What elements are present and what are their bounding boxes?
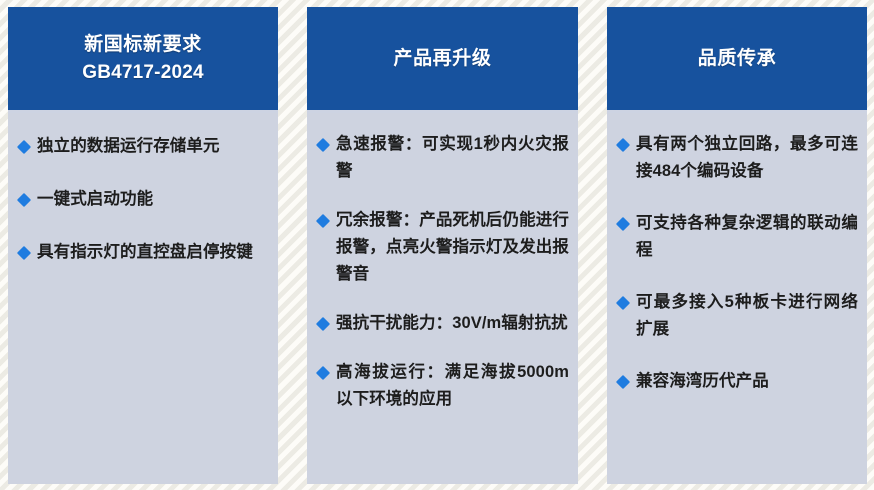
card-body-product-upgrade: 急速报警：可实现1秒内火灾报警 冗余报警：产品死机后仍能进行报警，点亮火警指示灯… bbox=[307, 113, 578, 484]
diamond-bullet-icon bbox=[316, 317, 330, 331]
diamond-bullet-icon bbox=[616, 296, 630, 310]
bullet-list-new-standard: 独立的数据运行存储单元 一键式启动功能 具有指示灯的直控盘启停按键 bbox=[18, 133, 269, 266]
list-item-text: 具有指示灯的直控盘启停按键 bbox=[37, 243, 253, 261]
slide-canvas: 新国标新要求 GB4717-2024 独立的数据运行存储单元 一键式启动功能 bbox=[0, 0, 874, 490]
diamond-bullet-icon bbox=[17, 140, 31, 154]
list-item-text: 急速报警：可实现1秒内火灾报警 bbox=[336, 135, 569, 180]
card-header-product-upgrade: 产品再升级 bbox=[307, 7, 578, 110]
card-title-line-1: 新国标新要求 bbox=[84, 31, 202, 59]
list-item-text: 兼容海湾历代产品 bbox=[636, 372, 769, 390]
column-product-upgrade: 产品再升级 急速报警：可实现1秒内火灾报警 冗余报警：产品死机后仍能进行报警，点… bbox=[307, 0, 578, 490]
list-item: 具有指示灯的直控盘启停按键 bbox=[18, 239, 269, 266]
list-item-text: 独立的数据运行存储单元 bbox=[37, 137, 220, 155]
list-item-text: 冗余报警：产品死机后仍能进行报警，点亮火警指示灯及发出报警音 bbox=[336, 211, 569, 283]
list-item: 可最多接入5种板卡进行网络扩展 bbox=[617, 289, 858, 343]
list-item-text: 强抗干扰能力：30V/m辐射抗扰 bbox=[336, 314, 568, 332]
list-item-text: 可支持各种复杂逻辑的联动编程 bbox=[636, 214, 858, 259]
card-quality-heritage: 品质传承 具有两个独立回路，最多可连接484个编码设备 可支持各种复杂逻辑的联动… bbox=[607, 7, 867, 484]
diamond-bullet-icon bbox=[316, 366, 330, 380]
list-item: 高海拔运行：满足海拔5000m以下环境的应用 bbox=[317, 359, 569, 413]
column-quality-heritage: 品质传承 具有两个独立回路，最多可连接484个编码设备 可支持各种复杂逻辑的联动… bbox=[607, 0, 867, 490]
card-title-line-1: 品质传承 bbox=[698, 45, 776, 73]
diamond-bullet-icon bbox=[316, 138, 330, 152]
diamond-bullet-icon bbox=[616, 375, 630, 389]
card-new-standard: 新国标新要求 GB4717-2024 独立的数据运行存储单元 一键式启动功能 bbox=[8, 7, 278, 484]
list-item-text: 一键式启动功能 bbox=[37, 190, 153, 208]
list-item-text: 高海拔运行：满足海拔5000m以下环境的应用 bbox=[336, 363, 569, 408]
list-item: 可支持各种复杂逻辑的联动编程 bbox=[617, 210, 858, 264]
card-body-new-standard: 独立的数据运行存储单元 一键式启动功能 具有指示灯的直控盘启停按键 bbox=[8, 113, 278, 484]
card-product-upgrade: 产品再升级 急速报警：可实现1秒内火灾报警 冗余报警：产品死机后仍能进行报警，点… bbox=[307, 7, 578, 484]
card-header-new-standard: 新国标新要求 GB4717-2024 bbox=[8, 7, 278, 110]
card-body-quality-heritage: 具有两个独立回路，最多可连接484个编码设备 可支持各种复杂逻辑的联动编程 可最… bbox=[607, 113, 867, 484]
list-item-text: 可最多接入5种板卡进行网络扩展 bbox=[636, 293, 858, 338]
list-item: 强抗干扰能力：30V/m辐射抗扰 bbox=[317, 310, 569, 337]
list-item: 一键式启动功能 bbox=[18, 186, 269, 213]
diamond-bullet-icon bbox=[17, 246, 31, 260]
bullet-list-quality-heritage: 具有两个独立回路，最多可连接484个编码设备 可支持各种复杂逻辑的联动编程 可最… bbox=[617, 131, 858, 395]
diamond-bullet-icon bbox=[616, 217, 630, 231]
column-gap-2 bbox=[578, 0, 607, 490]
diamond-bullet-icon bbox=[17, 193, 31, 207]
list-item: 兼容海湾历代产品 bbox=[617, 368, 858, 395]
three-column-layout: 新国标新要求 GB4717-2024 独立的数据运行存储单元 一键式启动功能 bbox=[0, 0, 874, 490]
card-title-line-1: 产品再升级 bbox=[393, 45, 491, 73]
card-title-line-2: GB4717-2024 bbox=[82, 59, 204, 87]
list-item: 冗余报警：产品死机后仍能进行报警，点亮火警指示灯及发出报警音 bbox=[317, 207, 569, 288]
list-item-text: 具有两个独立回路，最多可连接484个编码设备 bbox=[636, 135, 858, 180]
diamond-bullet-icon bbox=[316, 214, 330, 228]
column-gap-1 bbox=[278, 0, 307, 490]
list-item: 具有两个独立回路，最多可连接484个编码设备 bbox=[617, 131, 858, 185]
bullet-list-product-upgrade: 急速报警：可实现1秒内火灾报警 冗余报警：产品死机后仍能进行报警，点亮火警指示灯… bbox=[317, 131, 569, 413]
list-item: 独立的数据运行存储单元 bbox=[18, 133, 269, 160]
list-item: 急速报警：可实现1秒内火灾报警 bbox=[317, 131, 569, 185]
column-new-standard: 新国标新要求 GB4717-2024 独立的数据运行存储单元 一键式启动功能 bbox=[8, 0, 278, 490]
diamond-bullet-icon bbox=[616, 138, 630, 152]
card-header-quality-heritage: 品质传承 bbox=[607, 7, 867, 110]
